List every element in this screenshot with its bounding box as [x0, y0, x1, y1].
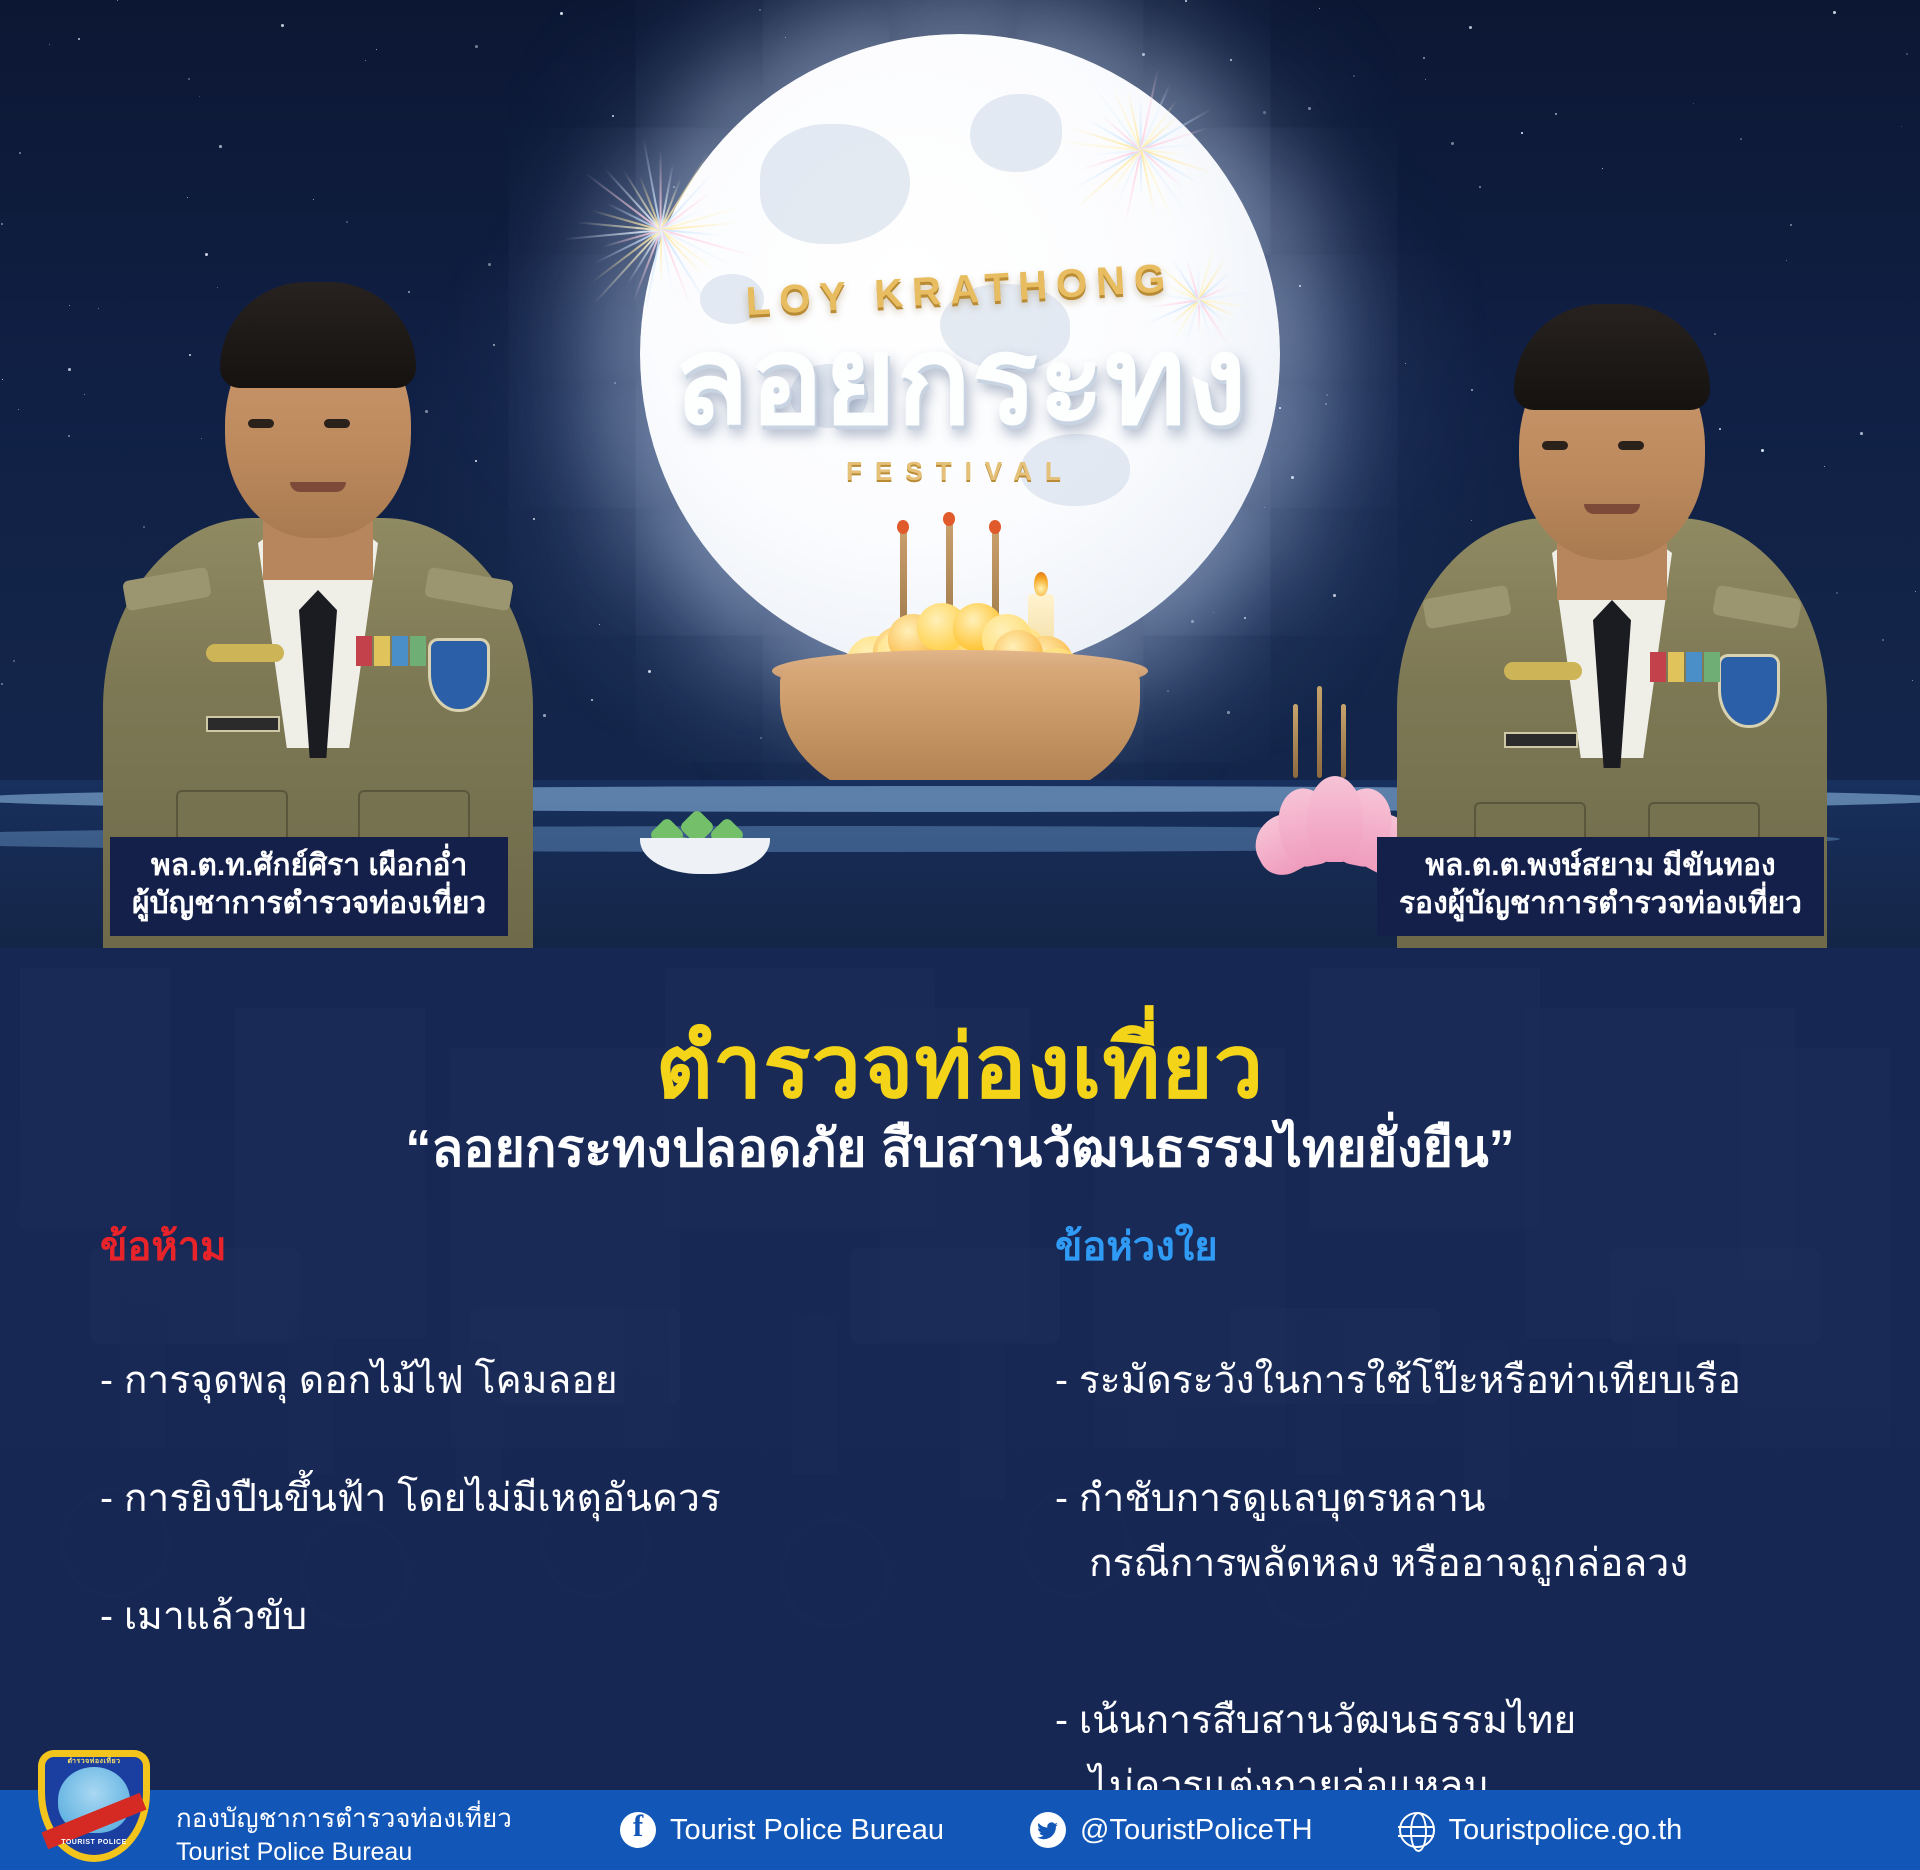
- guidelines-columns: ข้อห้าม - การจุดพลุ ดอกไม้ไฟ โคมลอย - กา…: [0, 1214, 1920, 1790]
- social-links: Tourist Police Bureau @TouristPoliceTH T…: [620, 1790, 1682, 1870]
- twitter-link[interactable]: @TouristPoliceTH: [1030, 1812, 1313, 1848]
- hero-section: LOY KRATHONG ลอยกระทง FESTIVAL: [0, 0, 1920, 948]
- list-item: - การยิงปืนขึ้นฟ้า โดยไม่มีเหตุอันควร: [100, 1440, 965, 1518]
- concern-item-2: - กำชับการดูแลบุตรหลาน: [1055, 1477, 1486, 1520]
- list-item: - ระมัดระวังในการใช้โป๊ะหรือท่าเทียบเรือ: [1055, 1322, 1920, 1400]
- officer-left-nameplate: พล.ต.ท.ศักย์ศิรา เผือกอ่ำ ผู้บัญชาการตำร…: [110, 837, 508, 936]
- prohibition-item-1: - การจุดพลุ ดอกไม้ไฟ โคมลอย: [100, 1359, 618, 1402]
- page-subtitle: “ลอยกระทงปลอดภัย สืบสานวัฒนธรรมไทยยั่งยื…: [0, 1106, 1920, 1189]
- concerns-heading: ข้อห่วงใย: [1055, 1214, 1920, 1278]
- concern-item-2-cont-1: กรณีการพลัดหลง หรืออาจถูกล่อลวง: [1055, 1544, 1920, 1583]
- officer-left-rank: ผู้บัญชาการตำรวจท่องเที่ยว: [132, 885, 486, 923]
- department-name: กองบัญชาการตำรวจท่องเที่ยว Tourist Polic…: [176, 1802, 512, 1868]
- officer-left-name: พล.ต.ท.ศักย์ศิรา เผือกอ่ำ: [132, 847, 486, 885]
- list-item: - การจุดพลุ ดอกไม้ไฟ โคมลอย: [100, 1322, 965, 1400]
- twitter-label: @TouristPoliceTH: [1080, 1814, 1313, 1847]
- prohibition-item-2: - การยิงปืนขึ้นฟ้า โดยไม่มีเหตุอันควร: [100, 1477, 721, 1520]
- facebook-icon: [620, 1812, 656, 1848]
- logo-bottom-text: TOURIST POLICE: [38, 1839, 150, 1846]
- banana-leaf-tray-illustration: [640, 800, 770, 874]
- twitter-icon: [1030, 1812, 1066, 1848]
- concerns-column: ข้อห่วงใย - ระมัดระวังในการใช้โป๊ะหรือท่…: [965, 1214, 1920, 1790]
- department-name-th: กองบัญชาการตำรวจท่องเที่ยว: [176, 1802, 512, 1836]
- list-item: - เน้นการสืบสานวัฒนธรรมไทย ไม่ควรแต่งกาย…: [1055, 1662, 1920, 1790]
- facebook-label: Tourist Police Bureau: [670, 1814, 944, 1847]
- prohibitions-heading: ข้อห้าม: [100, 1214, 965, 1278]
- list-item: - กำชับการดูแลบุตรหลาน กรณีการพลัดหลง หร…: [1055, 1440, 1920, 1622]
- footer-bar: ตำรวจท่องเที่ยว TOURIST POLICE กองบัญชาก…: [0, 1790, 1920, 1870]
- officer-right-nameplate: พล.ต.ต.พงษ์สยาม มีขันทอง รองผู้บัญชาการต…: [1377, 837, 1824, 936]
- department-name-en: Tourist Police Bureau: [176, 1836, 512, 1869]
- prohibition-item-3: - เมาแล้วขับ: [100, 1595, 307, 1638]
- main-content-section: ตำรวจท่องเที่ยว “ลอยกระทงปลอดภัย สืบสานว…: [0, 948, 1920, 1790]
- list-item: - เมาแล้วขับ: [100, 1558, 965, 1636]
- prohibitions-column: ข้อห้าม - การจุดพลุ ดอกไม้ไฟ โคมลอย - กา…: [0, 1214, 965, 1790]
- officer-photo-left: [88, 188, 548, 948]
- officer-right-name: พล.ต.ต.พงษ์สยาม มีขันทอง: [1399, 847, 1802, 885]
- facebook-link[interactable]: Tourist Police Bureau: [620, 1812, 944, 1848]
- website-label: Touristpolice.go.th: [1449, 1814, 1683, 1847]
- globe-icon: [1399, 1812, 1435, 1848]
- tourist-police-logo: ตำรวจท่องเที่ยว TOURIST POLICE: [38, 1750, 150, 1862]
- logo-top-text: ตำรวจท่องเที่ยว: [38, 1756, 150, 1767]
- concern-item-3-cont-1: ไม่ควรแต่งกายล่อแหลม: [1055, 1766, 1920, 1790]
- krathong-illustration: [750, 520, 1170, 820]
- website-link[interactable]: Touristpolice.go.th: [1399, 1812, 1683, 1848]
- concern-item-1: - ระมัดระวังในการใช้โป๊ะหรือท่าเทียบเรือ: [1055, 1359, 1741, 1402]
- officer-right-rank: รองผู้บัญชาการตำรวจท่องเที่ยว: [1399, 885, 1802, 923]
- concern-item-3: - เน้นการสืบสานวัฒนธรรมไทย: [1055, 1699, 1576, 1742]
